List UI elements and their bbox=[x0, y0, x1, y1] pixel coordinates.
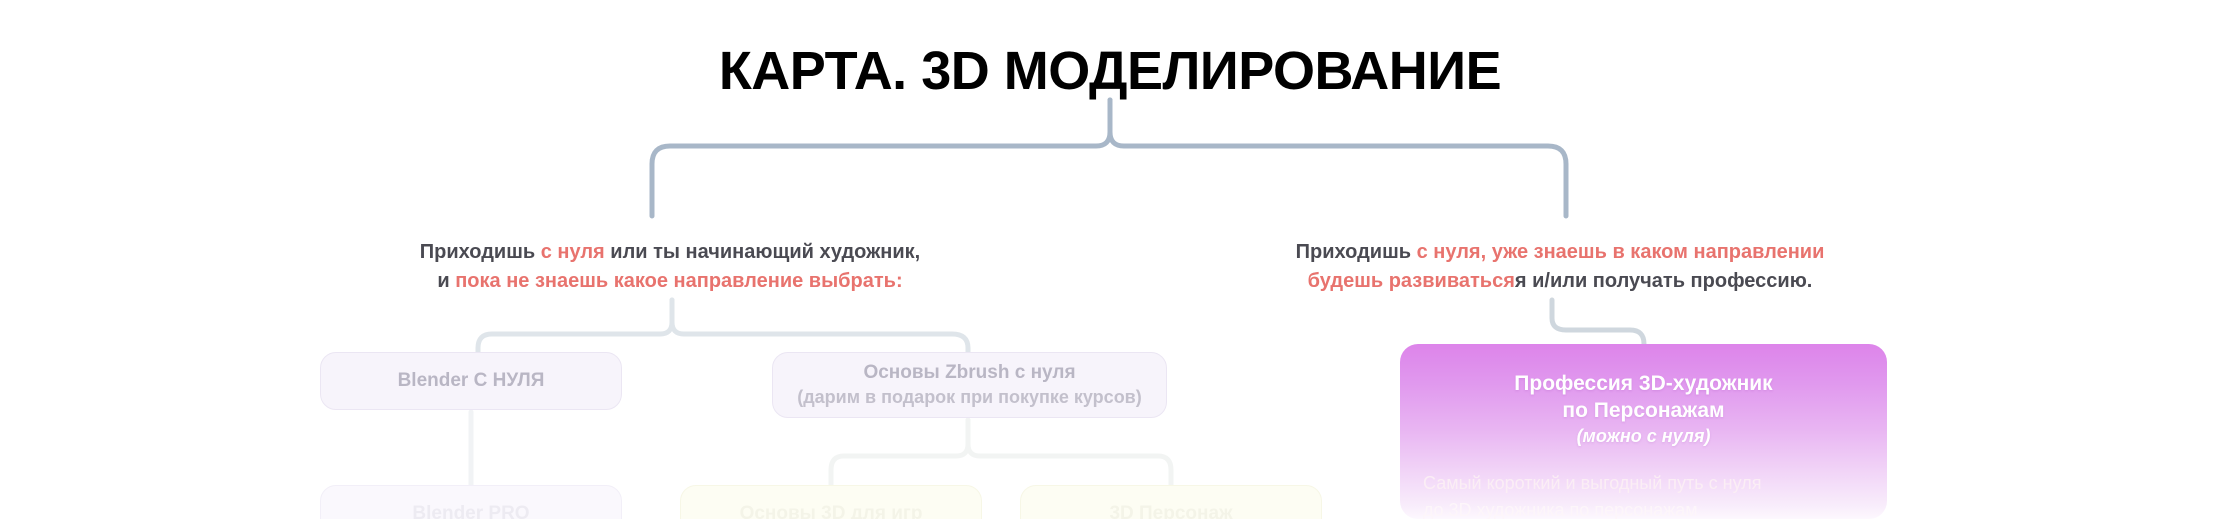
branch-left-line1-b: или ты начинающий художник, bbox=[605, 241, 921, 263]
card-zbrush-basics-title: Основы Zbrush с нуля bbox=[863, 361, 1075, 385]
branch-right-line1: Приходишь с нуля, уже знаешь в каком нап… bbox=[1190, 238, 1930, 267]
card-blender-pro[interactable]: Blender PRO bbox=[320, 485, 622, 519]
card-3d-basics-for-games[interactable]: Основы 3D для игр bbox=[680, 485, 982, 519]
branch-left-line1-highlight: с нуля bbox=[541, 241, 605, 263]
branch-right-line1-a: Приходишь bbox=[1296, 241, 1417, 263]
card-zbrush-basics-subtitle: (дарим в подарок при покупке курсов) bbox=[797, 385, 1142, 409]
branch-right-line2-b: я и/или получать профессию. bbox=[1515, 270, 1812, 292]
card-profession-title: Профессия 3D-художник по Персонажам bbox=[1400, 370, 1887, 424]
branch-description-right: Приходишь с нуля, уже знаешь в каком нап… bbox=[1190, 238, 1930, 296]
connector-root-right bbox=[1110, 100, 1566, 216]
card-zbrush-basics[interactable]: Основы Zbrush с нуля (дарим в подарок пр… bbox=[772, 352, 1167, 418]
connector-left-to-blender bbox=[478, 300, 672, 352]
card-profession-title-line1: Профессия 3D-художник bbox=[1400, 370, 1887, 397]
card-profession-title-line2: по Персонажам bbox=[1400, 397, 1887, 424]
card-profession-body: Самый короткий и выгодный путь с нуля до… bbox=[1423, 470, 1873, 519]
branch-description-left: Приходишь с нуля или ты начинающий худож… bbox=[240, 238, 1100, 296]
connector-zbrush-to-persona bbox=[968, 420, 1171, 485]
branch-left-line2: и пока не знаешь какое направление выбра… bbox=[240, 267, 1100, 296]
card-profession-body-line1: Самый короткий и выгодный путь с нуля bbox=[1423, 470, 1873, 497]
branch-left-line2-a: и bbox=[437, 270, 455, 292]
card-blender-pro-title: Blender PRO bbox=[412, 502, 529, 519]
branch-left-line2-highlight: пока не знаешь какое направление выбрать… bbox=[455, 270, 902, 292]
mindmap-canvas: КАРТА. 3D МОДЕЛИРОВАНИЕ Приходишь с нуля… bbox=[0, 0, 2220, 519]
connector-right-to-profession bbox=[1552, 300, 1644, 350]
card-profession-note: (можно с нуля) bbox=[1400, 426, 1887, 447]
card-blender-from-scratch-title: Blender С НУЛЯ bbox=[398, 369, 545, 393]
connector-zbrush-to-osnovy bbox=[831, 420, 968, 485]
branch-right-line1-highlight: с нуля, уже знаешь в каком направлении bbox=[1417, 241, 1825, 263]
card-profession-body-line2: до 3D художника по персонажам bbox=[1423, 497, 1873, 519]
page-title: КАРТА. 3D МОДЕЛИРОВАНИЕ bbox=[0, 40, 2220, 102]
card-blender-from-scratch[interactable]: Blender С НУЛЯ bbox=[320, 352, 622, 410]
card-3d-character-title: 3D Персонаж bbox=[1109, 502, 1232, 519]
branch-right-line2: будешь развиватьсяя и/или получать профе… bbox=[1190, 267, 1930, 296]
card-3d-character[interactable]: 3D Персонаж bbox=[1020, 485, 1322, 519]
branch-left-line1: Приходишь с нуля или ты начинающий худож… bbox=[240, 238, 1100, 267]
branch-left-line1-a: Приходишь bbox=[420, 241, 541, 263]
connector-root-left bbox=[652, 100, 1110, 216]
card-3d-basics-for-games-title: Основы 3D для игр bbox=[740, 502, 923, 519]
branch-right-line2-highlight: будешь развиваться bbox=[1308, 270, 1515, 292]
connector-left-to-zbrush bbox=[672, 300, 968, 352]
